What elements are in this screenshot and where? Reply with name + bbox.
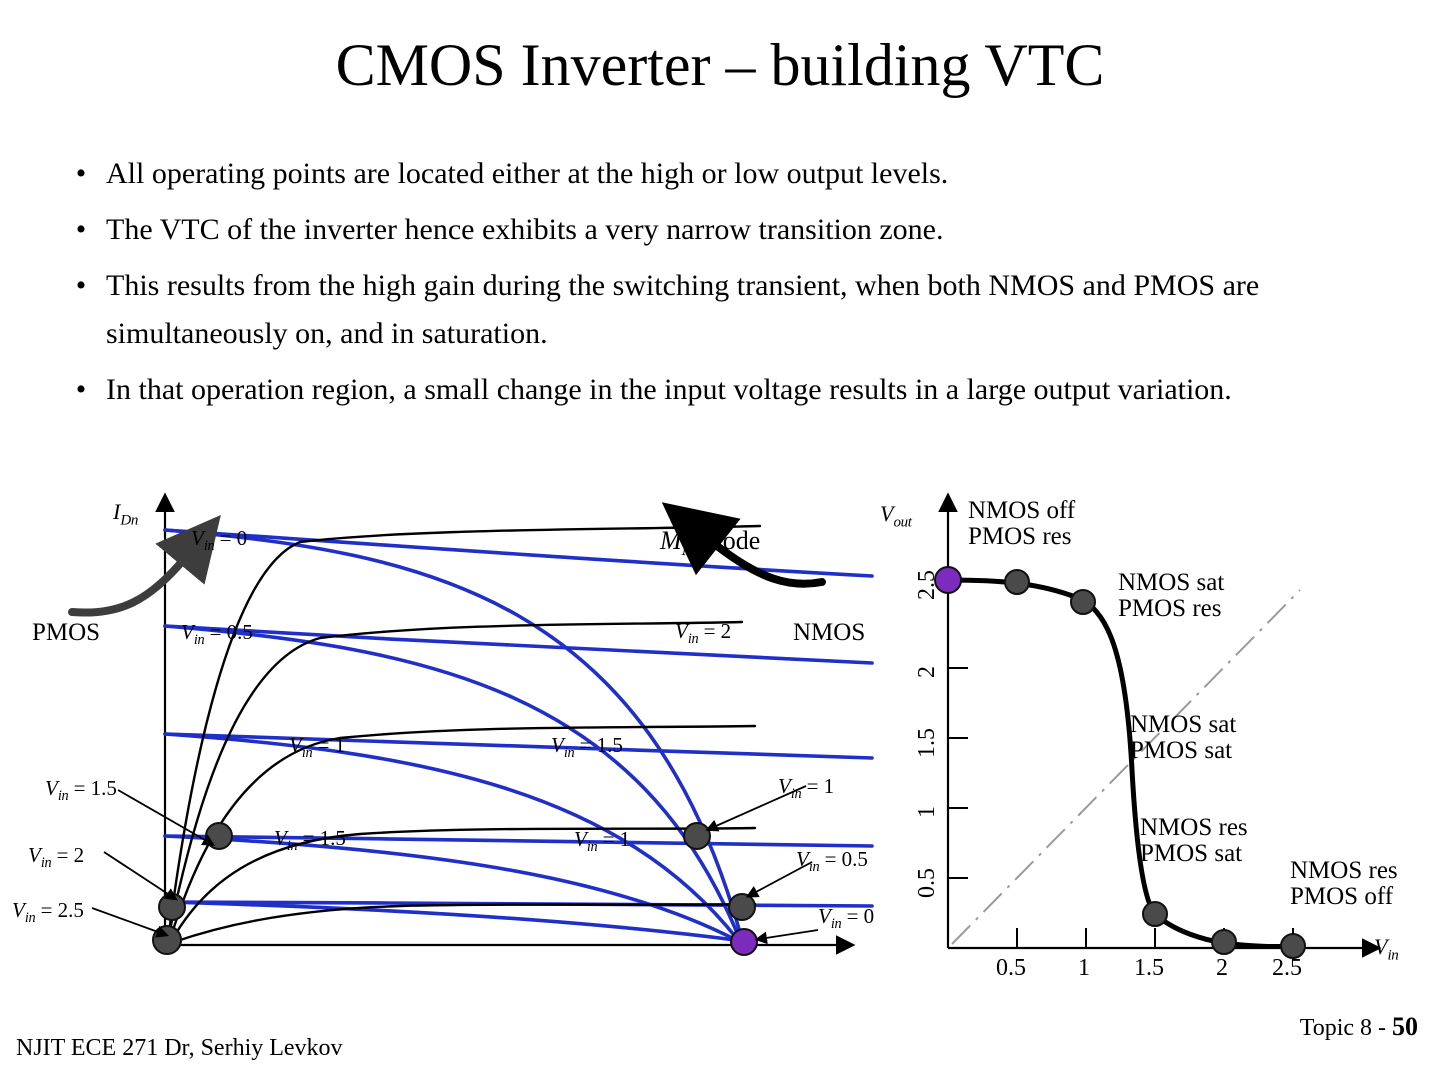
vtc-y-ticks (948, 580, 968, 878)
pmos-curve-vin0p5 (165, 626, 872, 663)
nmos-curve-label-vin1p5: Vin = 1.5 (551, 734, 623, 761)
operating-point (684, 823, 710, 849)
vtc-region-1-line1: NMOS off (968, 497, 1075, 524)
pmos-curve-label-vin2p5: Vin = 2.5 (12, 899, 84, 926)
slide: CMOS Inverter – building VTC • All opera… (0, 0, 1440, 1080)
vtc-region-2-line2: PMOS res (1118, 595, 1222, 622)
vtc-xtick-1: 1 (1078, 956, 1090, 981)
pmos-saturation-knees (165, 530, 742, 940)
operating-point-highlight (731, 929, 757, 955)
pmos-callout-arrow (72, 558, 185, 613)
operating-point (206, 823, 232, 849)
pmos-curve-label-vin2: Vin = 2 (28, 844, 84, 871)
bullet-text: The VTC of the inverter hence exhibits a… (106, 206, 1366, 254)
nmos-curve-label-vin1: Vin = 1 (778, 775, 834, 802)
pmos-load-lines (165, 530, 872, 906)
vtc-ytick-1: 1 (914, 806, 941, 818)
nmos-curve-label-vin2: Vin = 2 (675, 620, 731, 647)
footer-topic-label: Topic 8 - (1300, 1015, 1392, 1041)
vtc-x-axis-label: Vin (1374, 935, 1398, 964)
pmos-curve-label-vin1p5-mid: Vin = 1.5 (274, 827, 346, 854)
pmos-curve-vin1 (165, 734, 872, 758)
figure-container: IDn PMOS NMOS MN triode Vin = 0 Vin = 0.… (0, 470, 1440, 1000)
vtc-ytick-1p5: 1.5 (914, 728, 941, 758)
vtc-y-axis-label: Vout (880, 502, 912, 531)
list-item: • In that operation region, a small chan… (56, 366, 1366, 414)
vtc-region-label-5: NMOS res PMOS off (1290, 858, 1398, 911)
vtc-markers (935, 567, 1305, 958)
vtc-marker (1005, 570, 1029, 594)
page-title: CMOS Inverter – building VTC (0, 32, 1440, 98)
vtc-region-3-line2: PMOS sat (1130, 737, 1232, 764)
vtc-region-2-line1: NMOS sat (1118, 569, 1224, 596)
vtc-region-label-1: NMOS off PMOS res (968, 498, 1075, 551)
bullet-text: This results from the high gain during t… (106, 262, 1366, 358)
bullet-marker: • (56, 262, 106, 310)
vtc-marker (1143, 902, 1167, 926)
pmos-device-label: PMOS (32, 620, 100, 646)
load-line-plot (72, 510, 872, 955)
nmos-curve-label-vin0p5: Vin = 0.5 (796, 848, 868, 875)
vtc-curve (948, 580, 1300, 947)
bullet-list: • All operating points are located eithe… (56, 150, 1366, 422)
vtc-region-label-3: NMOS sat PMOS sat (1130, 712, 1236, 765)
left-plot-y-axis-label: IDn (113, 500, 138, 529)
bullet-marker: • (56, 366, 106, 414)
vtc-region-5-line2: PMOS off (1290, 883, 1393, 910)
operating-point (159, 894, 185, 920)
vtc-region-label-4: NMOS res PMOS sat (1140, 815, 1248, 868)
vtc-ytick-0p5: 0.5 (914, 868, 941, 898)
bullet-marker: • (56, 150, 106, 198)
nmos-device-label: NMOS (793, 620, 865, 646)
vtc-marker (1071, 590, 1095, 614)
vtc-region-4-line2: PMOS sat (1140, 840, 1242, 867)
footer-left: NJIT ECE 271 Dr, Serhiy Levkov (16, 1035, 343, 1062)
list-item: • All operating points are located eithe… (56, 150, 1366, 198)
vtc-xtick-0p5: 0.5 (996, 956, 1026, 981)
bullet-text: In that operation region, a small change… (106, 366, 1366, 414)
pmos-curve-label-vin1p5: Vin = 1.5 (45, 777, 117, 804)
vtc-region-5-line1: NMOS res (1290, 857, 1398, 884)
pmos-curve-vin0 (165, 530, 872, 576)
vtc-region-3-line1: NMOS sat (1130, 711, 1236, 738)
vtc-ytick-2: 2 (914, 666, 941, 678)
pmos-curve-label-vin1: Vin = 1 (289, 734, 345, 761)
footer-right: Topic 8 - 50 (1300, 1012, 1418, 1042)
bullet-marker: • (56, 206, 106, 254)
page-number: 50 (1392, 1012, 1418, 1041)
pmos-curve-label-vin0: Vin = 0 (191, 527, 247, 554)
pmos-curve-label-vin0p5: Vin = 0.5 (181, 621, 253, 648)
list-item: • This results from the high gain during… (56, 262, 1366, 358)
vtc-unity-line (952, 590, 1300, 944)
vtc-region-1-line2: PMOS res (968, 523, 1072, 550)
vtc-ytick-2p5: 2.5 (914, 570, 941, 600)
operating-point (729, 894, 755, 920)
vtc-region-label-2: NMOS sat PMOS res (1118, 570, 1224, 623)
mn-triode-label: MN triode (660, 527, 760, 559)
bullet-text: All operating points are located either … (106, 150, 1366, 198)
vtc-marker (1212, 930, 1236, 954)
vtc-region-4-line1: NMOS res (1140, 814, 1248, 841)
vtc-xtick-1p5: 1.5 (1134, 956, 1164, 981)
operating-point (153, 926, 181, 954)
vtc-xtick-2p5: 2.5 (1272, 956, 1302, 981)
nmos-curve-label-vin0: Vin = 0 (818, 905, 874, 932)
nmos-curve-label-vin1-mid: Vin = 1 (574, 828, 630, 855)
list-item: • The VTC of the inverter hence exhibits… (56, 206, 1366, 254)
vtc-xtick-2: 2 (1216, 956, 1228, 981)
